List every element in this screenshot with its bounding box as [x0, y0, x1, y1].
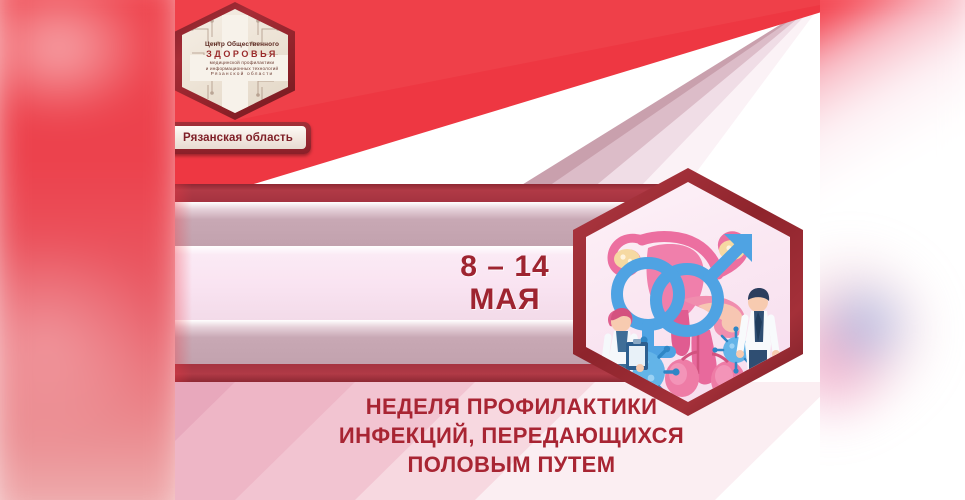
title-line-3: ПОЛОВЫМ ПУТЕМ — [203, 450, 820, 479]
organization-logo: Центр Общественного ЗДОРОВЬЯ медицинской… — [175, 2, 295, 120]
date-month: МАЯ — [469, 283, 540, 316]
illustration-hexagon — [573, 168, 803, 416]
logo-line-2: ЗДОРОВЬЯ — [188, 49, 288, 60]
title-line-2: ИНФЕКЦИЙ, ПЕРЕДАЮЩИХСЯ — [203, 421, 820, 450]
poster-stage: 8 – 14 МАЯ — [0, 0, 965, 500]
region-badge-label: Рязанская область — [183, 132, 293, 144]
region-badge-inner: Рязанская область — [175, 126, 306, 149]
poster-main: 8 – 14 МАЯ — [175, 0, 820, 500]
backdrop-left-blur — [0, 0, 186, 500]
logo-text-block: Центр Общественного ЗДОРОВЬЯ медицинской… — [188, 41, 288, 79]
date-range: 8 – 14 — [460, 250, 549, 283]
logo-line-5: Рязанской области — [188, 72, 288, 79]
logo-line-1: Центр Общественного — [188, 41, 288, 49]
title-line-1: НЕДЕЛЯ ПРОФИЛАКТИКИ — [203, 392, 820, 421]
region-badge: Рязанская область — [175, 122, 311, 154]
poster-title: НЕДЕЛЯ ПРОФИЛАКТИКИ ИНФЕКЦИЙ, ПЕРЕДАЮЩИХ… — [175, 392, 820, 479]
